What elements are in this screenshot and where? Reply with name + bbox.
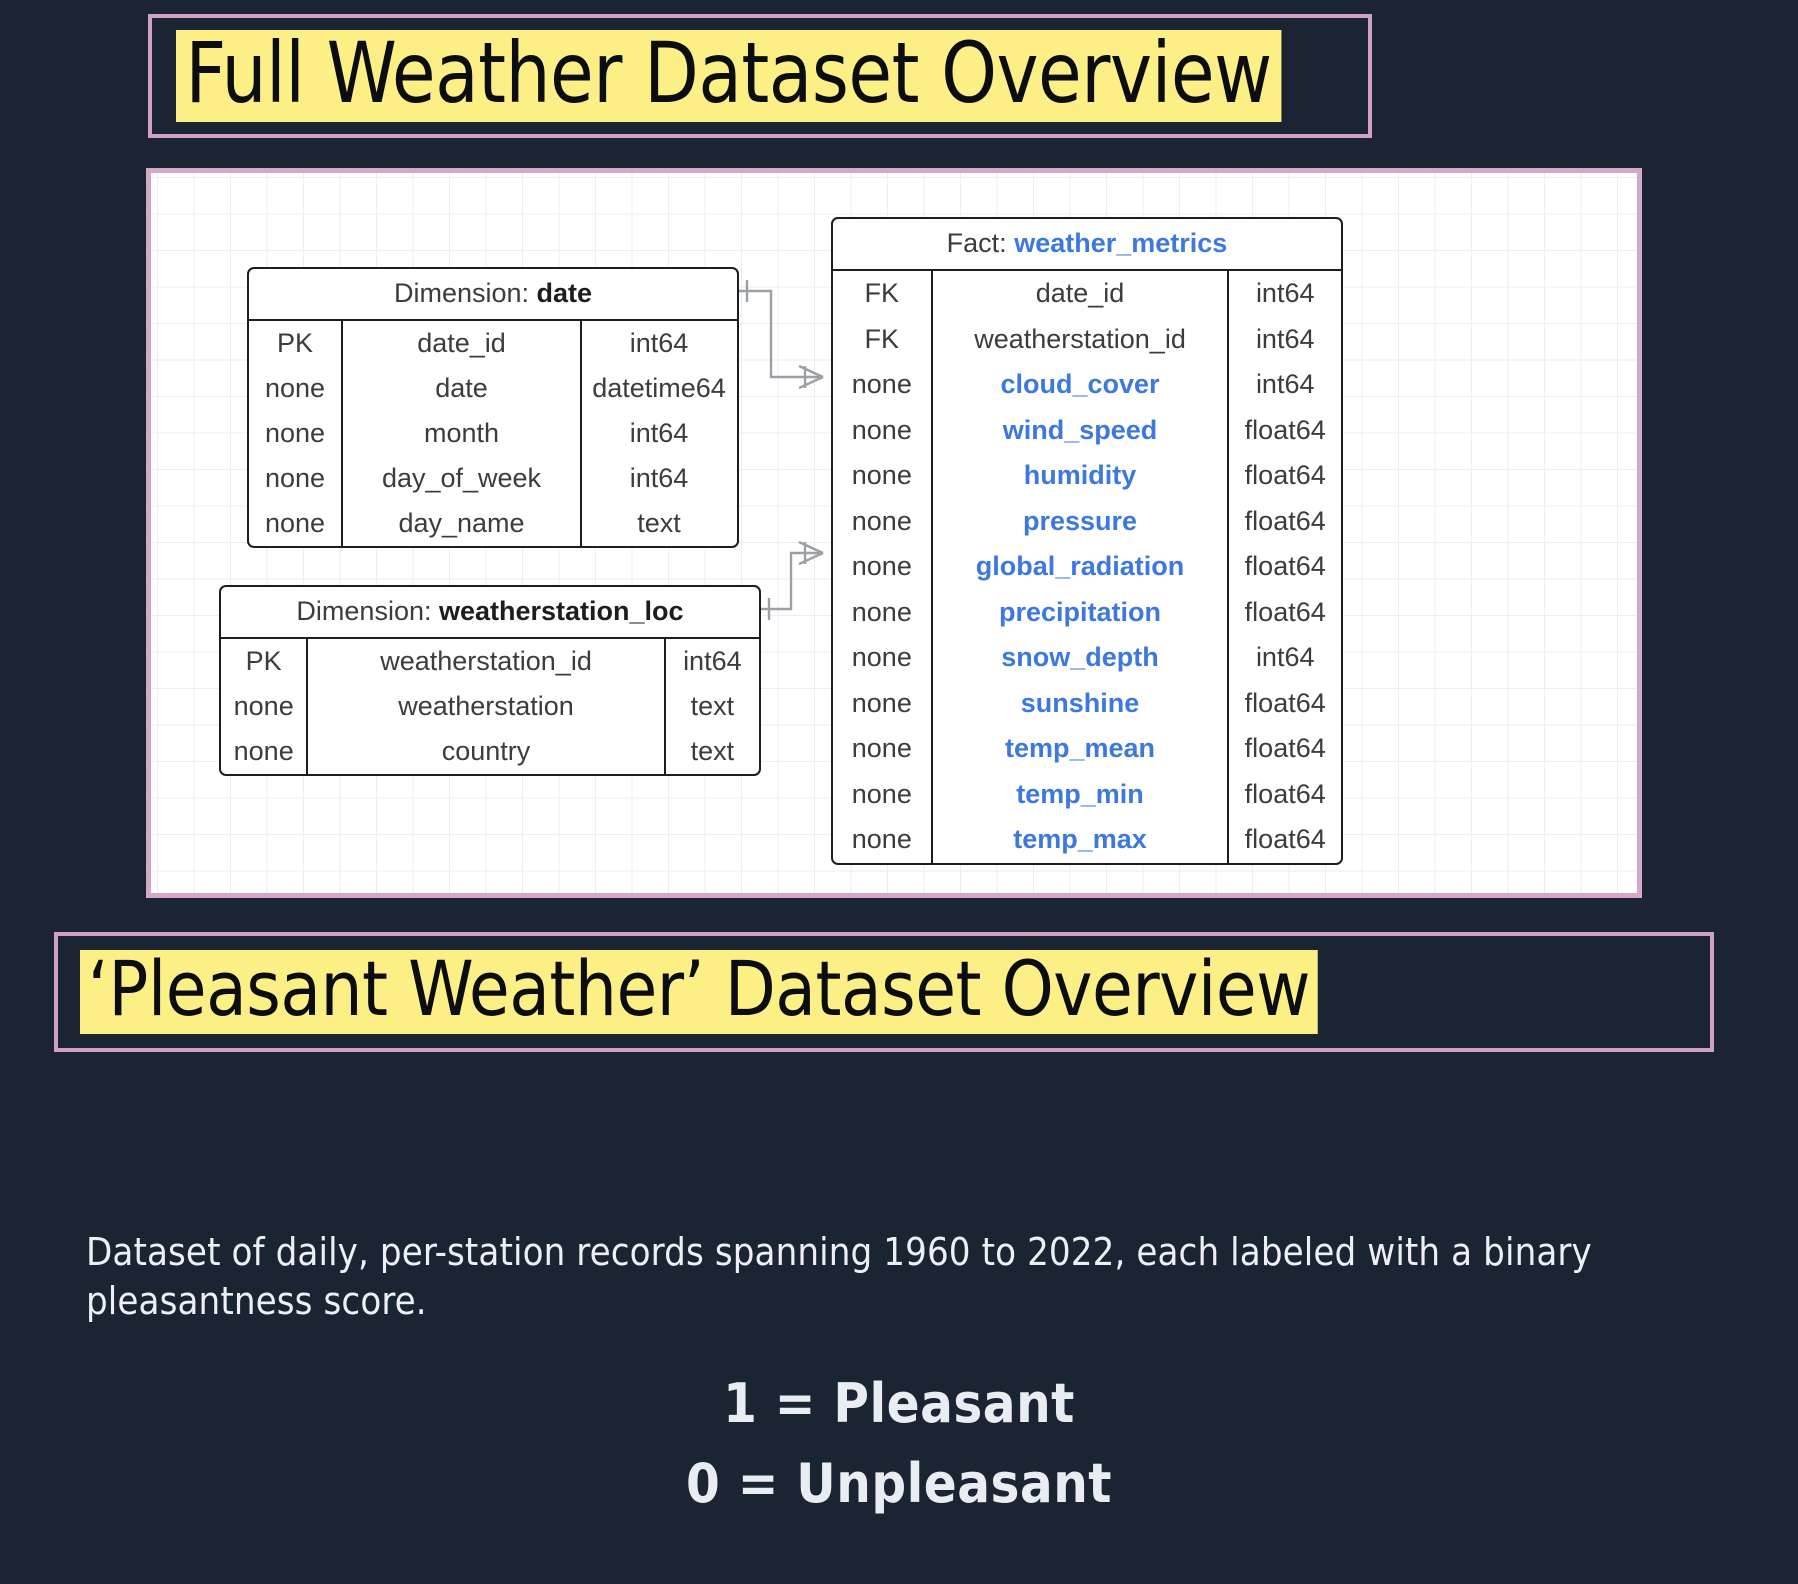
er-column-field: date_id weatherstation_id cloud_cover wi… xyxy=(933,271,1228,863)
table-cell-type: float64 xyxy=(1229,544,1341,590)
table-title-prefix: Dimension: xyxy=(394,278,537,308)
table-cell-field: temp_mean xyxy=(933,726,1228,772)
table-title-name: weather_metrics xyxy=(1014,228,1227,258)
table-cell-type: float64 xyxy=(1229,408,1341,454)
table-cell-key: none xyxy=(833,590,931,636)
table-cell-type: float64 xyxy=(1229,772,1341,818)
table-cell-key: FK xyxy=(833,317,931,363)
table-title-name: date xyxy=(537,278,593,308)
table-cell-field: precipitation xyxy=(933,590,1228,636)
er-table-body: PK none none none none date_id date mont… xyxy=(249,321,737,546)
bottom-title-frame: ‘Pleasant Weather’ Dataset Overview xyxy=(54,932,1714,1052)
table-cell-type: float64 xyxy=(1229,453,1341,499)
page-title-top: Full Weather Dataset Overview xyxy=(176,30,1281,122)
table-cell-key: none xyxy=(249,366,341,411)
er-table-dimension-weatherstation-loc[interactable]: Dimension: weatherstation_loc PK none no… xyxy=(219,585,761,776)
table-cell-type: float64 xyxy=(1229,681,1341,727)
table-cell-field: date_id xyxy=(343,321,580,366)
table-cell-field: month xyxy=(343,411,580,456)
er-column-field: weatherstation_id weatherstation country xyxy=(308,639,663,774)
er-table-title: Dimension: weatherstation_loc xyxy=(221,587,759,639)
table-cell-key: none xyxy=(833,726,931,772)
table-cell-type: int64 xyxy=(582,411,736,456)
diagram-grid-canvas: Dimension: date PK none none none none d… xyxy=(151,173,1637,893)
table-cell-key: none xyxy=(249,456,341,501)
table-cell-key: none xyxy=(833,635,931,681)
table-cell-field: date_id xyxy=(933,271,1228,317)
table-cell-key: PK xyxy=(221,639,306,684)
table-title-name: weatherstation_loc xyxy=(439,596,684,626)
table-cell-field: temp_min xyxy=(933,772,1228,818)
table-cell-key: none xyxy=(221,684,306,729)
table-cell-type: text xyxy=(666,729,759,774)
table-cell-key: FK xyxy=(833,271,931,317)
table-cell-field: wind_speed xyxy=(933,408,1228,454)
er-table-dimension-date[interactable]: Dimension: date PK none none none none d… xyxy=(247,267,739,548)
table-cell-key: none xyxy=(833,499,931,545)
table-cell-field: weatherstation xyxy=(308,684,663,729)
table-cell-key: none xyxy=(249,411,341,456)
table-cell-key: PK xyxy=(249,321,341,366)
table-cell-field: day_name xyxy=(343,501,580,546)
table-cell-type: float64 xyxy=(1229,499,1341,545)
table-cell-type: int64 xyxy=(1229,635,1341,681)
table-cell-field: global_radiation xyxy=(933,544,1228,590)
er-column-field: date_id date month day_of_week day_name xyxy=(343,321,580,546)
page-title-bottom: ‘Pleasant Weather’ Dataset Overview xyxy=(80,950,1318,1034)
er-table-body: PK none none weatherstation_id weatherst… xyxy=(221,639,759,774)
table-cell-type: text xyxy=(582,501,736,546)
table-cell-key: none xyxy=(833,453,931,499)
er-table-fact-weather-metrics[interactable]: Fact: weather_metrics FK FK none none no… xyxy=(831,217,1343,865)
table-title-prefix: Dimension: xyxy=(296,596,439,626)
table-cell-type: int64 xyxy=(666,639,759,684)
table-cell-field: day_of_week xyxy=(343,456,580,501)
table-cell-key: none xyxy=(833,544,931,590)
table-cell-type: float64 xyxy=(1229,590,1341,636)
table-cell-type: int64 xyxy=(582,321,736,366)
er-table-title: Fact: weather_metrics xyxy=(833,219,1341,271)
table-cell-field: pressure xyxy=(933,499,1228,545)
table-cell-field: sunshine xyxy=(933,681,1228,727)
table-cell-field: date xyxy=(343,366,580,411)
er-table-title: Dimension: date xyxy=(249,269,737,321)
table-cell-key: none xyxy=(221,729,306,774)
er-table-body: FK FK none none none none none none none… xyxy=(833,271,1341,863)
er-column-key: FK FK none none none none none none none… xyxy=(833,271,933,863)
table-cell-field: humidity xyxy=(933,453,1228,499)
er-column-key: PK none none xyxy=(221,639,308,774)
slide-root: Full Weather Dataset Overview Dimension:… xyxy=(0,0,1798,1584)
table-cell-type: int64 xyxy=(1229,317,1341,363)
table-cell-key: none xyxy=(833,408,931,454)
table-cell-type: float64 xyxy=(1229,817,1341,863)
top-title-frame: Full Weather Dataset Overview xyxy=(148,14,1372,138)
table-cell-field: cloud_cover xyxy=(933,362,1228,408)
table-cell-key: none xyxy=(833,681,931,727)
table-title-prefix: Fact: xyxy=(947,228,1015,258)
legend-unpleasant: 0 = Unpleasant xyxy=(0,1452,1798,1515)
table-cell-field: temp_max xyxy=(933,817,1228,863)
table-cell-key: none xyxy=(249,501,341,546)
er-column-key: PK none none none none xyxy=(249,321,343,546)
table-cell-field: weatherstation_id xyxy=(933,317,1228,363)
er-column-type: int64 int64 int64 float64 float64 float6… xyxy=(1227,271,1341,863)
er-column-type: int64 text text xyxy=(664,639,759,774)
table-cell-field: weatherstation_id xyxy=(308,639,663,684)
er-diagram-frame: Dimension: date PK none none none none d… xyxy=(146,168,1642,898)
table-cell-key: none xyxy=(833,362,931,408)
table-cell-key: none xyxy=(833,772,931,818)
table-cell-type: float64 xyxy=(1229,726,1341,772)
legend-pleasant: 1 = Pleasant xyxy=(0,1372,1798,1435)
table-cell-type: int64 xyxy=(582,456,736,501)
table-cell-key: none xyxy=(833,817,931,863)
table-cell-field: snow_depth xyxy=(933,635,1228,681)
dataset-description: Dataset of daily, per-station records sp… xyxy=(86,1228,1706,1325)
table-cell-type: int64 xyxy=(1229,362,1341,408)
table-cell-field: country xyxy=(308,729,663,774)
table-cell-type: text xyxy=(666,684,759,729)
table-cell-type: int64 xyxy=(1229,271,1341,317)
er-column-type: int64 datetime64 int64 int64 text xyxy=(580,321,736,546)
table-cell-type: datetime64 xyxy=(582,366,736,411)
